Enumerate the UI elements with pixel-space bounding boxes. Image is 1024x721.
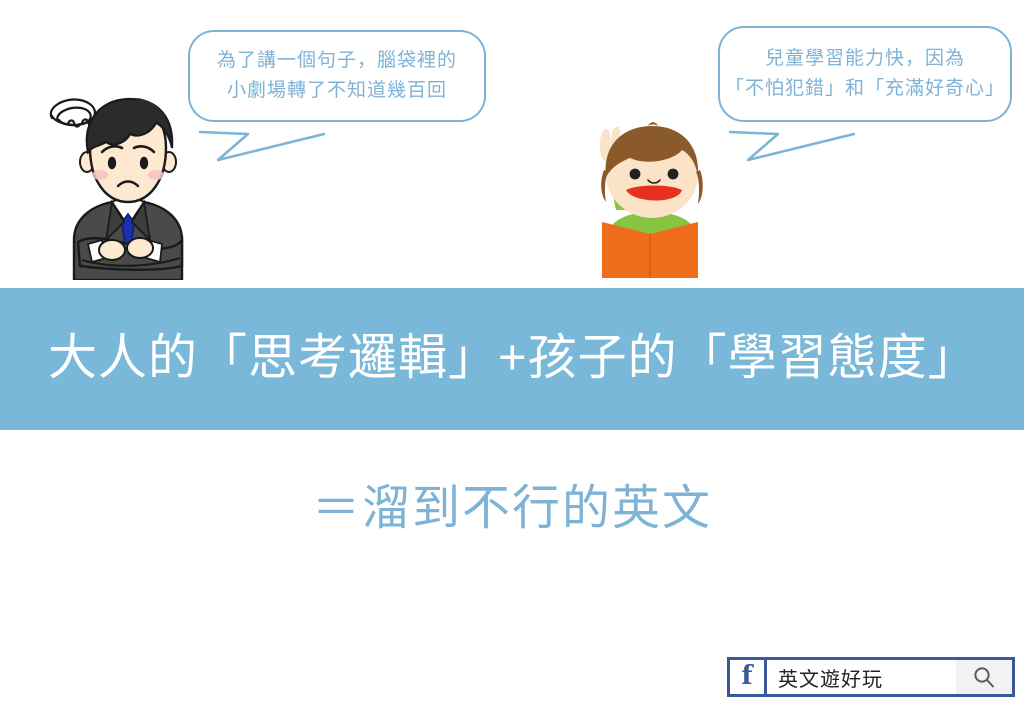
speech-bubble-left-line-1: 為了講一個句子，腦袋裡的: [217, 46, 457, 76]
search-icon: [972, 665, 996, 689]
headline-banner: 大人的「思考邏輯」+孩子的「學習態度」: [0, 288, 1024, 430]
facebook-search-input[interactable]: 英文遊好玩: [767, 663, 956, 692]
left-eye: [108, 157, 116, 169]
headline-text: 大人的「思考邏輯」+孩子的「學習態度」: [48, 332, 978, 386]
speech-bubble-right-line-2: 「不怕犯錯」和「充滿好奇心」: [725, 74, 1005, 104]
facebook-logo-icon[interactable]: f: [730, 660, 764, 694]
confusion-scribble-icon: [51, 99, 95, 126]
facebook-search-button[interactable]: [956, 660, 1012, 694]
left-eye: [630, 169, 641, 180]
facebook-search-bar[interactable]: 英文遊好玩: [767, 660, 1012, 694]
confused-businessman-illustration: [38, 90, 218, 280]
speech-bubble-right-line-1: 兒童學習能力快，因為: [765, 44, 965, 74]
eager-child-illustration: [578, 118, 728, 278]
right-eye: [140, 157, 148, 169]
speech-bubble-left: 為了講一個句子，腦袋裡的 小劇場轉了不知道幾百回: [188, 30, 486, 122]
subtitle-text: ＝溜到不行的英文: [0, 468, 1024, 538]
right-eye: [668, 169, 679, 180]
speech-bubble-right: 兒童學習能力快，因為 「不怕犯錯」和「充滿好奇心」: [718, 26, 1012, 122]
speech-bubble-left-line-2: 小劇場轉了不知道幾百回: [227, 76, 447, 106]
facebook-search-widget[interactable]: f 英文遊好玩: [727, 657, 1015, 697]
